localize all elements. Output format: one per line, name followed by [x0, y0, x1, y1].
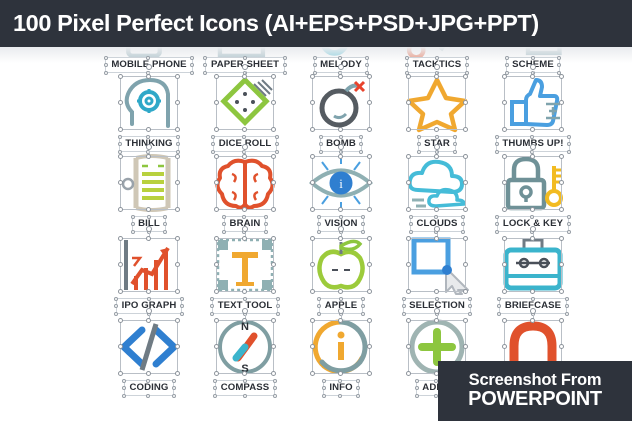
- dice-roll-icon: [214, 74, 276, 132]
- clouds-icon: [406, 154, 468, 212]
- slide-canvas: 100 Pixel Perfect Icons (AI+EPS+PSD+JPG+…: [0, 0, 632, 421]
- cell-lock-and-key[interactable]: LOCK & KEY: [485, 153, 581, 232]
- selection-icon: [406, 236, 468, 294]
- badge-line-2: POWERPOINT: [468, 389, 602, 410]
- label-text: CLOUDS: [416, 218, 457, 229]
- label-melody[interactable]: MELODY: [314, 57, 368, 73]
- svg-text:S: S: [241, 363, 248, 375]
- thinking-icon: [118, 74, 180, 132]
- cell-thumbs-up[interactable]: THUMBS UP!: [485, 73, 581, 152]
- cell-info[interactable]: INFO: [293, 317, 389, 396]
- label-star[interactable]: STAR: [418, 136, 456, 152]
- cell-compass[interactable]: N S COMPASS: [197, 317, 293, 396]
- label-bill[interactable]: BILL: [132, 216, 166, 232]
- art-briefcase[interactable]: [485, 235, 581, 295]
- label-text: CODING: [130, 382, 169, 393]
- label-bomb[interactable]: BOMB: [320, 136, 362, 152]
- cell-clouds[interactable]: CLOUDS: [389, 153, 485, 232]
- art-thumbs-up[interactable]: [485, 73, 581, 133]
- art-bill[interactable]: [101, 153, 197, 213]
- cell-ipo-graph[interactable]: IPO GRAPH: [101, 235, 197, 314]
- cell-dice-roll[interactable]: DICE ROLL: [197, 73, 293, 152]
- cell-melody[interactable]: MELODY: [293, 54, 389, 73]
- label-text: PAPER SHEET: [211, 59, 279, 70]
- label-tacktics[interactable]: TACKTICS: [407, 57, 468, 73]
- label-scheme[interactable]: SCHEME: [506, 57, 560, 73]
- cell-thinking[interactable]: THINKING: [101, 73, 197, 152]
- label-lock-and-key[interactable]: LOCK & KEY: [497, 216, 569, 232]
- info-icon: [310, 318, 372, 376]
- label-apple[interactable]: APPLE: [319, 298, 364, 314]
- cell-brain[interactable]: BRAIN: [197, 153, 293, 232]
- apple-icon: [310, 236, 372, 294]
- label-text: MELODY: [320, 59, 362, 70]
- label-info[interactable]: INFO: [323, 380, 358, 396]
- label-text: BRAIN: [230, 218, 261, 229]
- label-text: STAR: [424, 138, 450, 149]
- art-coding[interactable]: [101, 317, 197, 377]
- cell-mobile-phone[interactable]: MOBILE PHONE: [101, 54, 197, 73]
- label-text: BILL: [138, 218, 160, 229]
- cell-bomb[interactable]: BOMB: [293, 73, 389, 152]
- label-text: BOMB: [326, 138, 356, 149]
- label-text: VISION: [324, 218, 357, 229]
- art-info[interactable]: [293, 317, 389, 377]
- brain-icon: [214, 154, 276, 212]
- svg-text:N: N: [241, 321, 249, 333]
- coding-icon: [118, 318, 180, 376]
- label-text: COMPASS: [221, 382, 270, 393]
- art-thinking[interactable]: [101, 73, 197, 133]
- label-thinking[interactable]: THINKING: [119, 136, 178, 152]
- art-star[interactable]: [389, 73, 485, 133]
- bill-icon: [118, 154, 180, 212]
- art-dice-roll[interactable]: [197, 73, 293, 133]
- label-brain[interactable]: BRAIN: [224, 216, 267, 232]
- art-brain[interactable]: [197, 153, 293, 213]
- cell-text-tool[interactable]: TEXT TOOL: [197, 235, 293, 314]
- label-paper-sheet[interactable]: PAPER SHEET: [205, 57, 285, 73]
- label-compass[interactable]: COMPASS: [215, 380, 276, 396]
- art-vision[interactable]: i: [293, 153, 389, 213]
- label-ipo-graph[interactable]: IPO GRAPH: [116, 298, 183, 314]
- text-tool-icon: [214, 236, 276, 294]
- art-ipo-graph[interactable]: [101, 235, 197, 295]
- page-title: 100 Pixel Perfect Icons (AI+EPS+PSD+JPG+…: [0, 10, 539, 37]
- label-clouds[interactable]: CLOUDS: [410, 216, 463, 232]
- label-text: DICE ROLL: [219, 138, 272, 149]
- thumbs-up-icon: [502, 74, 564, 132]
- compass-icon: N S: [214, 318, 276, 376]
- cell-apple[interactable]: APPLE: [293, 235, 389, 314]
- label-mobile-phone[interactable]: MOBILE PHONE: [105, 57, 192, 73]
- art-clouds[interactable]: [389, 153, 485, 213]
- label-text: TEXT TOOL: [218, 300, 273, 311]
- label-text: THUMBS UP!: [502, 138, 563, 149]
- cell-vision[interactable]: i VISION: [293, 153, 389, 232]
- label-text: BRIEFCASE: [505, 300, 561, 311]
- screenshot-source-badge: Screenshot From POWERPOINT: [438, 361, 632, 421]
- art-apple[interactable]: [293, 235, 389, 295]
- label-text: MOBILE PHONE: [111, 59, 186, 70]
- label-coding[interactable]: CODING: [124, 380, 175, 396]
- label-text: INFO: [329, 382, 352, 393]
- art-compass[interactable]: N S: [197, 317, 293, 377]
- cell-selection[interactable]: SELECTION: [389, 235, 485, 314]
- label-text: SCHEME: [512, 59, 554, 70]
- label-text: THINKING: [125, 138, 172, 149]
- label-vision[interactable]: VISION: [318, 216, 363, 232]
- cell-bill[interactable]: BILL: [101, 153, 197, 232]
- label-text: IPO GRAPH: [122, 300, 177, 311]
- label-briefcase[interactable]: BRIEFCASE: [499, 298, 567, 314]
- cell-scheme[interactable]: SCHEME: [485, 54, 581, 73]
- svg-text:i: i: [339, 176, 343, 191]
- vision-icon: i: [310, 154, 372, 212]
- cell-coding[interactable]: CODING: [101, 317, 197, 396]
- badge-line-1: Screenshot From: [469, 372, 602, 389]
- label-thumbs-up[interactable]: THUMBS UP!: [496, 136, 569, 152]
- art-selection[interactable]: [389, 235, 485, 295]
- bomb-icon: [310, 74, 372, 132]
- label-text: APPLE: [325, 300, 358, 311]
- art-text-tool[interactable]: [197, 235, 293, 295]
- label-text: LOCK & KEY: [503, 218, 563, 229]
- ipo-graph-icon: [118, 236, 180, 294]
- briefcase-icon: [502, 236, 564, 294]
- cell-star[interactable]: STAR: [389, 73, 485, 152]
- label-text: SELECTION: [409, 300, 465, 311]
- cell-tacktics[interactable]: TACKTICS: [389, 54, 485, 73]
- label-text: TACKTICS: [413, 59, 462, 70]
- star-icon: [406, 74, 468, 132]
- label-selection[interactable]: SELECTION: [403, 298, 471, 314]
- label-text-tool[interactable]: TEXT TOOL: [212, 298, 279, 314]
- art-bomb[interactable]: [293, 73, 389, 133]
- lock-and-key-icon: [502, 154, 564, 212]
- header-banner: 100 Pixel Perfect Icons (AI+EPS+PSD+JPG+…: [0, 0, 632, 47]
- cell-paper-sheet[interactable]: PAPER SHEET: [197, 54, 293, 73]
- label-dice-roll[interactable]: DICE ROLL: [213, 136, 278, 152]
- cell-briefcase[interactable]: BRIEFCASE: [485, 235, 581, 314]
- art-lock-and-key[interactable]: [485, 153, 581, 213]
